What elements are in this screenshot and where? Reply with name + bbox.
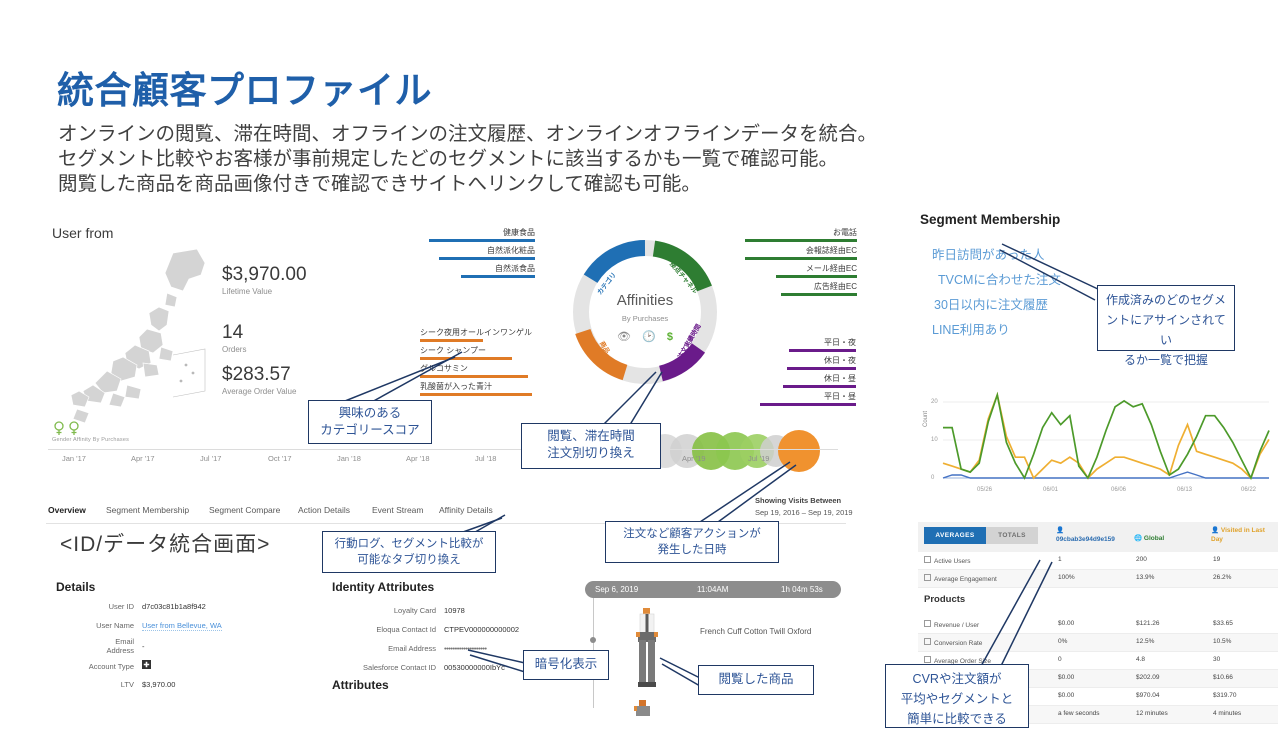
list-item: 自然派食品: [415, 264, 535, 278]
cell-visited: $33.65: [1213, 620, 1233, 627]
details-table: User ID d7c03c81b1a8f942 User Name User …: [56, 602, 306, 702]
cell-visited: $319.70: [1213, 692, 1237, 699]
score-bar: [420, 393, 532, 396]
axis-tick: Jul '19: [748, 454, 769, 463]
tab-overview[interactable]: Overview: [48, 505, 86, 515]
chart-xtick: 06/13: [1177, 487, 1192, 493]
cell-user: $0.00: [1058, 692, 1074, 699]
score-bar: [461, 275, 535, 278]
id-integration-headline: <ID/データ統合画面>: [60, 528, 270, 558]
cell-user: 0%: [1058, 638, 1067, 645]
row-label: Active Users: [924, 556, 970, 565]
segment-item: 昨日訪問があった人: [932, 243, 1061, 268]
affinity-category-list: 健康食品 自然派化粧品 自然派食品: [415, 228, 535, 282]
score-bar: [439, 257, 535, 260]
axis-tick: Jul '17: [200, 454, 221, 463]
identity-value-masked: ••••••••••••••••••••: [444, 644, 487, 653]
cell-user: 1: [1058, 556, 1062, 563]
detail-value: $3,970.00: [142, 680, 175, 689]
details-title: Details: [56, 580, 95, 594]
cell-user: $0.00: [1058, 674, 1074, 681]
row-label: Revenue / User: [924, 620, 979, 629]
identity-key: Salesforce Contact ID: [332, 663, 436, 672]
eye-icon[interactable]: 👁: [617, 331, 631, 343]
list-item: 自然派化粧品: [415, 246, 535, 260]
identity-value: CTPEV000000000002: [444, 625, 519, 634]
affinity-donut-chart: Affinities By Purchases 👁 🕑 $ カテゴリ 接点チャネ…: [565, 232, 725, 392]
table-row: Active Users 1 200 19: [918, 552, 1278, 570]
detail-key: LTV: [56, 680, 134, 689]
timeline-divider: [48, 449, 838, 450]
chart-xtick: 06/22: [1241, 487, 1256, 493]
column-header-user: 👤 09cbab3e94d9e159: [1056, 526, 1126, 544]
affinity-center-subtitle: By Purchases: [565, 314, 725, 323]
score-bar: [420, 339, 483, 342]
list-item: シーク シャンプー: [420, 346, 532, 360]
kpi-value: $283.57: [222, 364, 296, 386]
affinity-product-list: シーク夜用オールインワンゲル シーク シャンプー グルコサミン 乳酸菌が入った青…: [420, 328, 532, 400]
list-item: シーク夜用オールインワンゲル: [420, 328, 532, 342]
cell-user: 100%: [1058, 574, 1075, 581]
tab-segment-membership[interactable]: Segment Membership: [106, 505, 189, 515]
list-item: メール経由EC: [745, 264, 857, 278]
identity-key: Loyalty Card: [332, 606, 436, 615]
cell-visited: 4 minutes: [1213, 710, 1241, 717]
callout-cvr-compare: CVRや注文額が 平均やセグメントと 簡単に比較できる: [885, 664, 1029, 728]
axis-tick: Apr '18: [406, 454, 430, 463]
identity-key: Email Address: [332, 644, 436, 653]
row-label: Average Engagement: [924, 574, 997, 583]
axis-tick: Apr '17: [131, 454, 155, 463]
score-bar: [429, 239, 535, 242]
list-item: 会報誌経由EC: [745, 246, 857, 260]
axis-tick: Jul '18: [475, 454, 496, 463]
segment-membership-title: Segment Membership: [920, 212, 1060, 227]
score-bar: [781, 293, 857, 296]
attributes-title: Attributes: [332, 678, 389, 692]
metrics-table-header: AVERAGES TOTALS 👤 09cbab3e94d9e159 🌐 Glo…: [918, 522, 1278, 552]
callout-action-datetime: 注文など顧客アクションが 発生した日時: [605, 521, 779, 563]
tab-event-stream[interactable]: Event Stream: [372, 505, 424, 515]
axis-tick: Jan '17: [62, 454, 86, 463]
totals-toggle[interactable]: TOTALS: [986, 527, 1038, 544]
kpi-label: Orders: [222, 345, 246, 354]
clock-icon[interactable]: 🕑: [642, 331, 656, 343]
showing-visits-between: Showing Visits Between Sep 19, 2016 – Se…: [755, 495, 853, 519]
segment-item: 30日以内に注文履歴: [934, 293, 1061, 318]
detail-key: EmailAddress: [56, 637, 134, 655]
chart-ytick: 10: [931, 437, 938, 443]
column-header-global: 🌐 Global: [1134, 534, 1164, 543]
table-row: Revenue / User $0.00 $121.26 $33.65: [918, 616, 1278, 634]
gender-affinity-caption: Gender Affinity By Purchases: [52, 437, 129, 443]
score-bar: [420, 375, 528, 378]
table-row: Conversion Rate 0% 12.5% 10.5%: [918, 634, 1278, 652]
cell-global: 4.8: [1136, 656, 1145, 663]
chart-ytick: 0: [931, 475, 934, 481]
detail-key: User ID: [56, 602, 134, 611]
detail-value: -: [142, 642, 145, 651]
chart-canvas: [925, 375, 1277, 503]
product-image[interactable]: [628, 606, 666, 692]
checkbox-icon[interactable]: [924, 638, 931, 645]
checkbox-icon[interactable]: [924, 620, 931, 627]
kpi-label: Lifetime Value: [222, 287, 307, 296]
chart-ytick: 20: [931, 399, 938, 405]
cell-user: 0: [1058, 656, 1062, 663]
callout-tab-switch: 行動ログ、セグメント比較が 可能なタブ切り換え: [322, 531, 496, 573]
identity-value: 00530000000IbYc: [444, 663, 505, 672]
user-icon: 👤: [1056, 527, 1064, 534]
score-bar: [760, 403, 856, 406]
product-image-next[interactable]: [630, 700, 656, 724]
dollar-icon[interactable]: $: [667, 331, 673, 343]
callout-viewed-product: 閲覧した商品: [698, 665, 814, 695]
list-item: グルコサミン: [420, 364, 532, 378]
page-title: 統合顧客プロファイル: [57, 60, 432, 114]
chart-xtick: 06/01: [1043, 487, 1058, 493]
japan-map: [55, 245, 245, 435]
kpi-average-order-value: $283.57 Average Order Value: [222, 364, 296, 396]
list-item: 休日・夜: [760, 356, 856, 370]
list-item: お電話: [745, 228, 857, 242]
score-bar: [745, 257, 857, 260]
callout-segment-assign: 作成済みのどのセグメ ントにアサインされてい るか一覧で把握: [1097, 285, 1235, 351]
event-product-name[interactable]: French Cuff Cotton Twill Oxford: [700, 626, 820, 638]
person-icon: 👤: [1211, 527, 1219, 534]
callout-view-dwell-order: 閲覧、滞在時間 注文別切り換え: [521, 423, 661, 469]
table-row: Average Engagement 100% 13.9% 26.2%: [918, 570, 1278, 588]
checkbox-icon[interactable]: [924, 556, 931, 563]
list-item: 休日・昼: [760, 374, 856, 388]
event-time: 11:04AM: [697, 585, 728, 594]
cell-global: 12.5%: [1136, 638, 1154, 645]
score-bar: [420, 357, 512, 360]
cell-user: $0.00: [1058, 620, 1074, 627]
tab-affinity-details[interactable]: Affinity Details: [439, 505, 493, 515]
cell-visited: 19: [1213, 556, 1220, 563]
identity-value: 10978: [444, 606, 465, 615]
kpi-orders: 14 Orders: [222, 322, 246, 354]
globe-icon: 🌐: [1134, 535, 1142, 542]
event-duration: 1h 04m 53s: [781, 585, 823, 594]
products-section-title: Products: [918, 588, 1278, 616]
averages-toggle[interactable]: AVERAGES: [924, 527, 986, 544]
cell-global: $970.04: [1136, 692, 1160, 699]
affinity-channel-list: お電話 会報誌経由EC メール経由EC 広告経由EC: [745, 228, 857, 300]
list-item: 乳酸菌が入った青汁: [420, 382, 532, 396]
kpi-label: Average Order Value: [222, 387, 296, 396]
checkbox-icon[interactable]: [924, 574, 931, 581]
cell-visited: 30: [1213, 656, 1220, 663]
list-item: 広告経由EC: [745, 282, 857, 296]
cell-global: $121.26: [1136, 620, 1160, 627]
segment-item: LINE利用あり: [932, 318, 1061, 343]
chart-xtick: 06/06: [1111, 487, 1126, 493]
score-bar: [783, 385, 856, 388]
cell-global: 12 minutes: [1136, 710, 1168, 717]
callout-encrypted: 暗号化表示: [523, 650, 609, 680]
kpi-value: 14: [222, 322, 246, 344]
detail-key: Account Type: [56, 662, 134, 671]
event-date: Sep 6, 2019: [595, 585, 638, 594]
tab-segment-compare[interactable]: Segment Compare: [209, 505, 280, 515]
cell-global: 13.9%: [1136, 574, 1154, 581]
segment-item: TVCMに合わせた注文: [938, 268, 1061, 293]
cell-global: $202.09: [1136, 674, 1160, 681]
user-from-label: User from: [52, 225, 113, 241]
identity-attributes-title: Identity Attributes: [332, 580, 434, 594]
list-item: 平日・夜: [760, 338, 856, 352]
affinity-center-title: Affinities: [565, 292, 725, 309]
row-label: Conversion Rate: [924, 638, 982, 647]
kpi-lifetime-value: $3,970.00 Lifetime Value: [222, 264, 307, 296]
callout-category-score: 興味のある カテゴリースコア: [308, 400, 432, 444]
score-bar: [776, 275, 857, 278]
score-bar: [789, 349, 856, 352]
page-subtitle: オンラインの閲覧、滞在時間、オフラインの注文履歴、オンラインオフラインデータを統…: [58, 122, 877, 197]
axis-tick: Apr '19: [682, 454, 706, 463]
list-item: 平日・昼: [760, 392, 856, 406]
cell-visited: 10.5%: [1213, 638, 1231, 645]
checkbox-icon[interactable]: [924, 656, 931, 663]
list-item: 健康食品: [415, 228, 535, 242]
identity-key: Eloqua Contact Id: [332, 625, 436, 634]
affinity-mode-icons[interactable]: 👁 🕑 $: [565, 330, 725, 343]
timeline-axis: Jan '17 Apr '17 Jul '17 Oct '17 Jan '18 …: [48, 454, 848, 468]
chart-xtick: 05/26: [977, 487, 992, 493]
event-dot: [590, 637, 596, 643]
axis-tick: Oct '17: [268, 454, 292, 463]
detail-value-user-name[interactable]: User from Bellevue, WA: [142, 621, 222, 631]
cell-visited: 26.2%: [1213, 574, 1231, 581]
tab-action-details[interactable]: Action Details: [298, 505, 350, 515]
chart-ylabel: Count: [923, 411, 929, 427]
score-bar: [745, 239, 857, 242]
kpi-value: $3,970.00: [222, 264, 307, 286]
axis-tick: Jan '18: [337, 454, 361, 463]
visits-line-chart: Count 20 10 0 05/26 06/01 06/06 06/13 06…: [925, 375, 1277, 503]
account-type-icon: [142, 660, 151, 671]
cell-user: a few seconds: [1058, 710, 1100, 717]
cell-global: 200: [1136, 556, 1147, 563]
detail-value: d7c03c81b1a8f942: [142, 602, 206, 611]
detail-key: User Name: [56, 621, 134, 630]
event-header-pill: Sep 6, 2019 11:04AM 1h 04m 53s: [585, 581, 841, 598]
cell-visited: $10.66: [1213, 674, 1233, 681]
score-bar: [787, 367, 856, 370]
affinity-order-time-list: 平日・夜 休日・夜 休日・昼 平日・昼: [760, 338, 856, 410]
segment-membership-list: 昨日訪問があった人 TVCMに合わせた注文 30日以内に注文履歴 LINE利用あ…: [932, 243, 1061, 343]
column-header-visited-last-day: 👤 Visited in Last Day: [1211, 526, 1273, 544]
